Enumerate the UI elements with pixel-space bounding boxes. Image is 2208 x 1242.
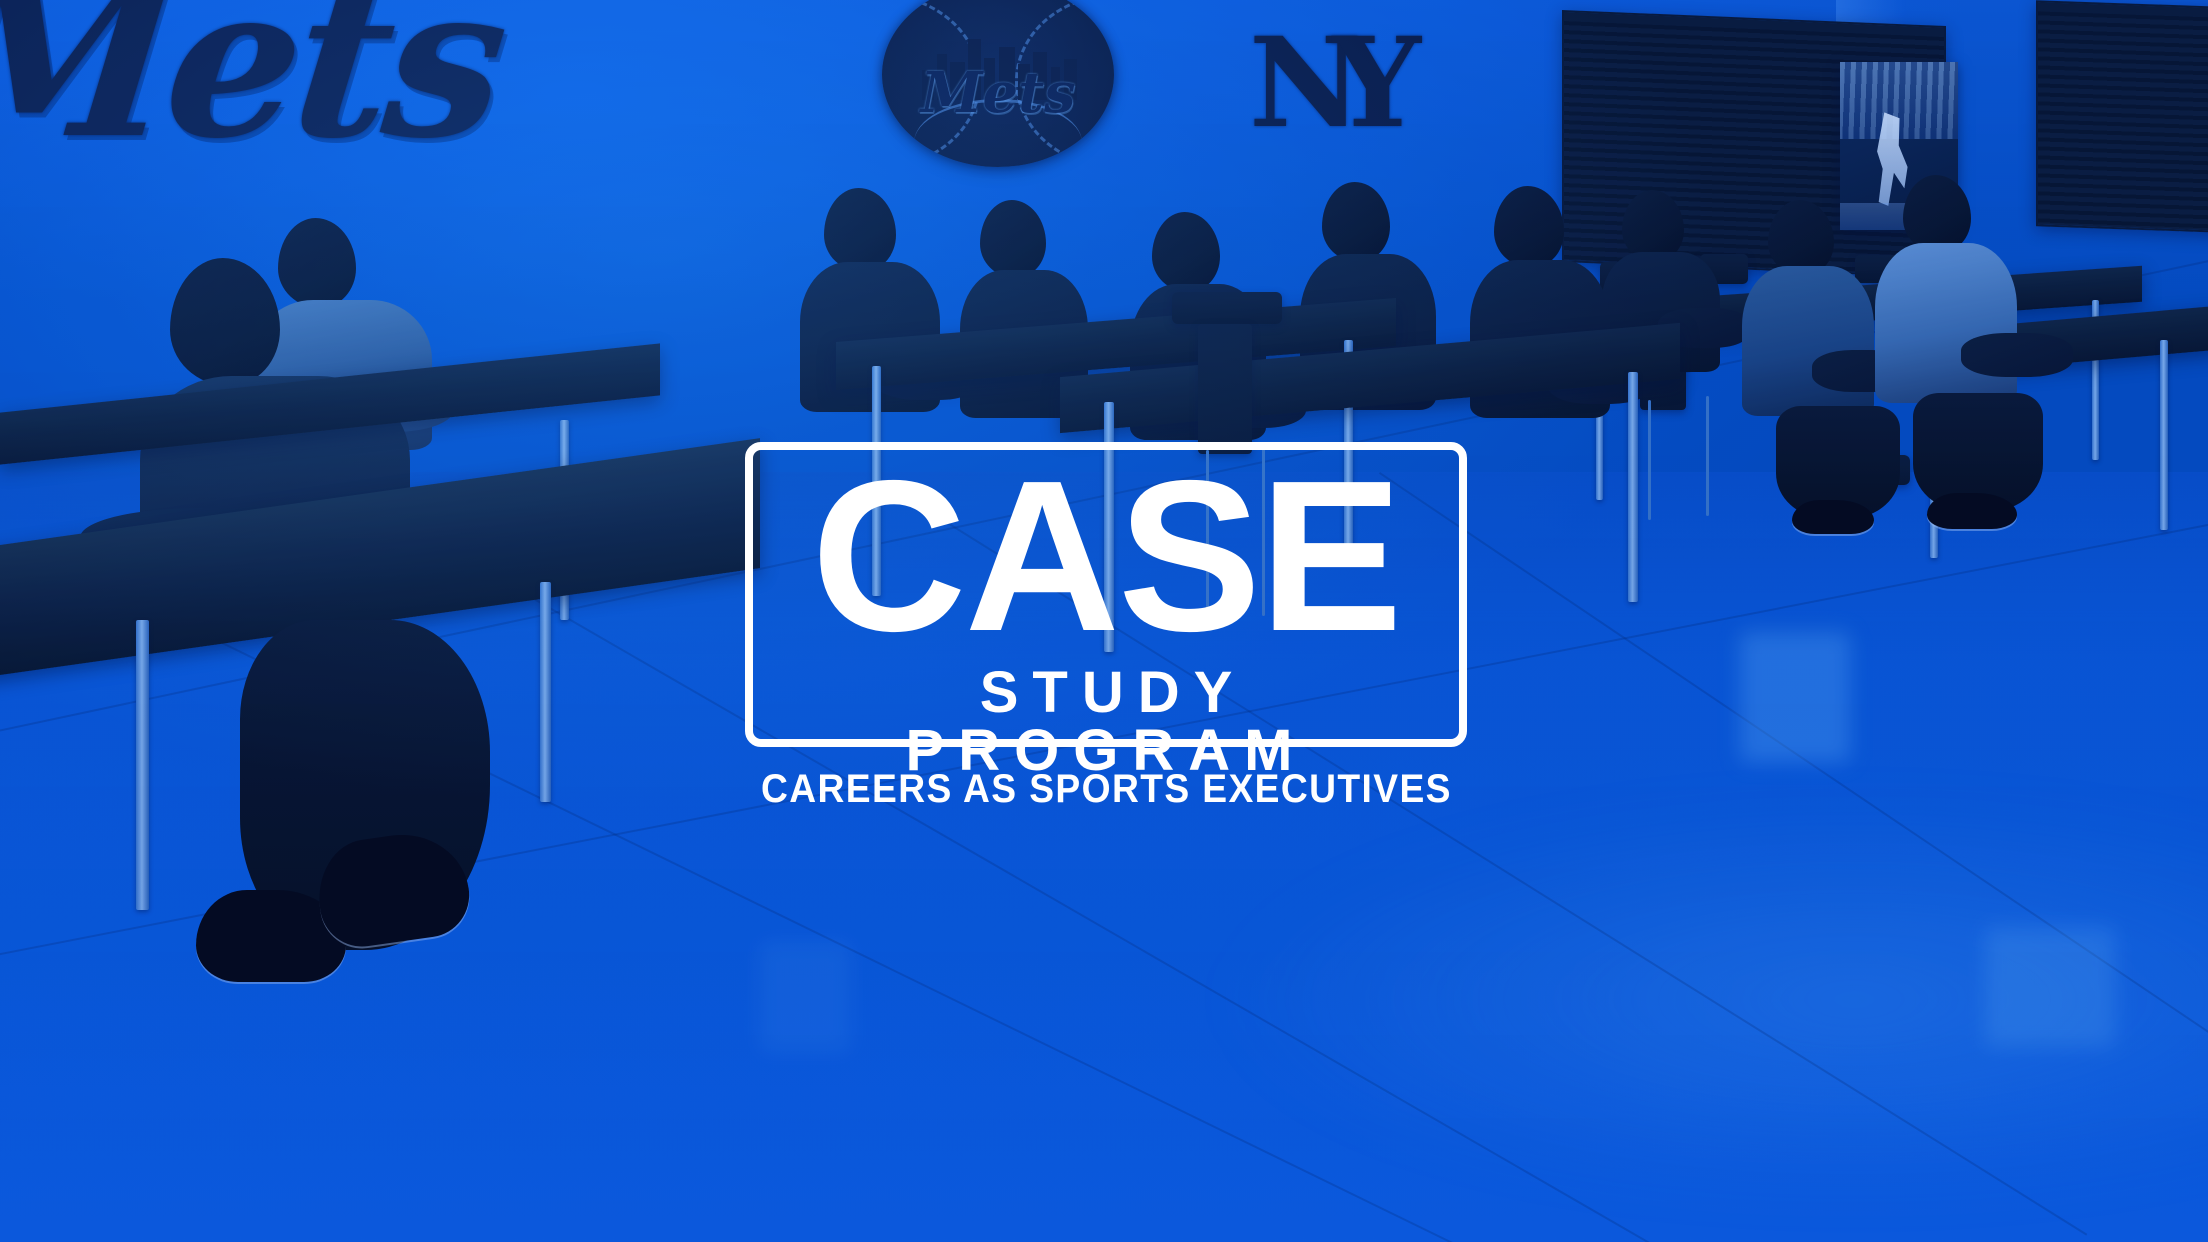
logo-title: CASE [811, 450, 1400, 662]
window-reflection [760, 942, 850, 1052]
attendee-head [1494, 186, 1564, 268]
window-reflection [1985, 927, 2115, 1047]
attendee-head [824, 188, 896, 272]
attendee-head [1152, 212, 1220, 292]
attendee-torso [1742, 266, 1874, 416]
table-leg [2160, 340, 2168, 530]
table-leg [1628, 372, 1638, 602]
attendee-arm [1961, 333, 2073, 377]
attendee-shoe [1927, 493, 2017, 529]
mets-script-wordmark: Mets [0, 0, 512, 185]
case-logo-lockup: CASE STUDY PROGRAM CAREERS AS SPORTS EXE… [745, 442, 1467, 812]
attendee-shoe [1792, 500, 1874, 534]
attendee-head [1768, 200, 1834, 276]
tagline-text: CAREERS AS SPORTS EXECUTIVES [761, 767, 1452, 812]
table-leg [136, 620, 149, 910]
logo-outline-box: CASE STUDY PROGRAM [745, 442, 1467, 747]
attendee-head [1322, 182, 1390, 262]
attendee-torso [1875, 243, 2017, 403]
screenshot-canvas: Mets Mets NY [0, 0, 2208, 1242]
blind-headrail [2038, 2, 2208, 18]
attendee [1470, 186, 1650, 436]
chair [1172, 292, 1282, 324]
attendee-head [980, 200, 1046, 278]
attendee-head [1903, 175, 1971, 253]
attendee-head [170, 258, 280, 386]
logo-subtitle: STUDY PROGRAM [753, 664, 1459, 780]
logo-tagline: CAREERS AS SPORTS EXECUTIVES [745, 767, 1467, 812]
window-reflection [1740, 632, 1850, 762]
roundel-wordmark: Mets [882, 60, 1114, 126]
table-leg [540, 582, 551, 802]
mets-roundel-logo: Mets [882, 0, 1114, 167]
ny-monogram-logo: NY [1255, 18, 1405, 153]
attendee [800, 188, 980, 428]
attendee [1875, 175, 2065, 495]
